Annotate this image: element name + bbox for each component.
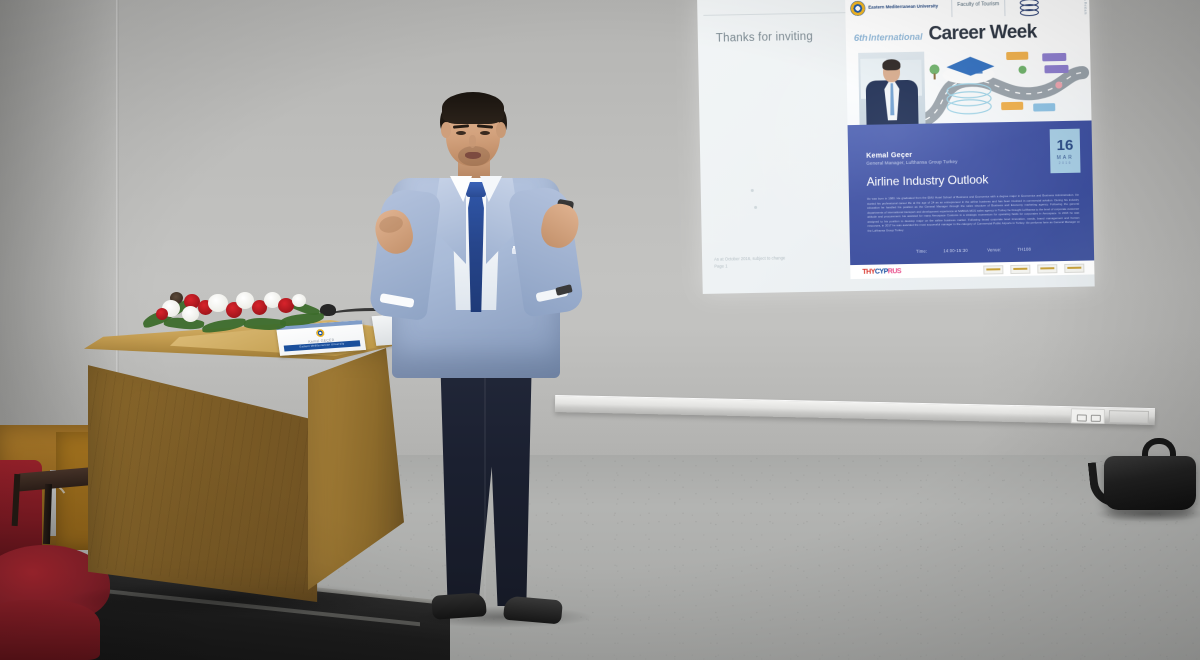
sponsor-badge xyxy=(1064,263,1084,272)
sponsor-logo-part-1: THY xyxy=(862,268,875,275)
slide-bullet-dot xyxy=(751,189,754,192)
projection-screen-area: Thanks for inviting As at October 2016, … xyxy=(697,0,1095,294)
event-ordinal-suffix: th xyxy=(859,33,868,44)
poster-speaker-role: General Manager, Lufthansa Group Turkey xyxy=(866,159,957,166)
slide-bullet-dot-2 xyxy=(754,206,757,209)
poster-speaker-name: Kemal Geçer xyxy=(866,150,912,160)
poster-speaker-bio: He was born in 1980. He graduated from t… xyxy=(867,193,1080,233)
presenter-eye-left xyxy=(456,131,466,135)
presenter-shoe-left xyxy=(431,592,487,620)
muka-logo: MUKA xyxy=(1010,0,1051,19)
header-divider-2 xyxy=(1004,0,1005,16)
venue-value: TH108 xyxy=(1017,247,1031,252)
poster-side-credit: MUKA Reklam xyxy=(1083,0,1087,15)
event-scope: International xyxy=(868,32,922,43)
career-week-poster: Eastern Mediterranean University Faculty… xyxy=(845,0,1094,279)
flower-bloom-white xyxy=(182,306,199,322)
faculty-name: Faculty of Tourism xyxy=(957,2,999,10)
power-socket-icon xyxy=(1071,408,1105,424)
coil-icon xyxy=(1017,0,1041,19)
university-seal-icon xyxy=(850,0,865,15)
trunking-vent xyxy=(1109,410,1149,424)
sponsor-logo-part-2: CYP xyxy=(875,268,888,275)
flower-arrangement xyxy=(140,286,350,336)
sponsor-badge xyxy=(983,265,1003,274)
flower-leaf xyxy=(202,318,247,334)
poster-body: Kemal Geçer General Manager, Lufthansa G… xyxy=(848,120,1095,265)
leather-briefcase[interactable] xyxy=(1096,432,1200,514)
poster-event-meta: Time:14:00-15:30 Venue:TH108 xyxy=(916,247,1031,254)
presenter-eye-right xyxy=(480,131,490,135)
time-value: 14:00-15:30 xyxy=(943,248,968,253)
slide-footer-line-2: Page 1 xyxy=(714,262,785,270)
sponsor-logo-part-3: RUS xyxy=(888,268,901,275)
projected-slide: Thanks for inviting As at October 2016, … xyxy=(697,0,1095,294)
trouser-seam xyxy=(484,350,486,600)
date-day: 16 xyxy=(1056,137,1073,152)
wooden-podium[interactable]: Kemal GEÇER Eastern Mediterranean Univer… xyxy=(84,320,404,606)
photo-hair xyxy=(882,59,900,70)
date-year: 2016 xyxy=(1059,160,1072,164)
main-sponsor-logo: THYCYPRUS xyxy=(862,268,901,276)
sponsor-badge xyxy=(1037,264,1057,273)
presenter-nose xyxy=(469,135,476,148)
flower-bloom-white xyxy=(292,294,306,307)
poster-date-badge: 16 MAR 2016 xyxy=(1050,129,1081,174)
poster-speaker-photo xyxy=(858,52,926,135)
university-name: Eastern Mediterranean University xyxy=(868,3,938,10)
presenter-hair xyxy=(442,92,504,124)
time-label: Time: xyxy=(916,249,927,254)
presenter-shoe-right xyxy=(503,596,563,625)
presenter-mouth xyxy=(465,152,481,159)
sponsor-badge xyxy=(1010,264,1030,273)
header-divider-1 xyxy=(951,0,952,17)
poster-talk-title: Airline Industry Outlook xyxy=(867,172,989,188)
bag-body xyxy=(1104,456,1196,510)
flower-bloom-white xyxy=(208,294,228,312)
venue-label: Venue: xyxy=(987,247,1001,252)
slide-title: Thanks for inviting xyxy=(716,31,813,45)
presenter-ear-left xyxy=(441,122,451,138)
presenter xyxy=(370,78,610,648)
emu-logo: Eastern Mediterranean University xyxy=(850,0,946,16)
event-title: Career Week xyxy=(928,21,1037,45)
slide-footer: As at October 2016, subject to change Pa… xyxy=(714,256,785,270)
lecture-hall-photo: Thanks for inviting As at October 2016, … xyxy=(0,0,1200,660)
presenter-trousers xyxy=(438,348,534,606)
flower-bloom-red xyxy=(156,308,168,320)
presenter-ear-right xyxy=(496,122,506,138)
sponsor-spacer xyxy=(901,270,976,271)
